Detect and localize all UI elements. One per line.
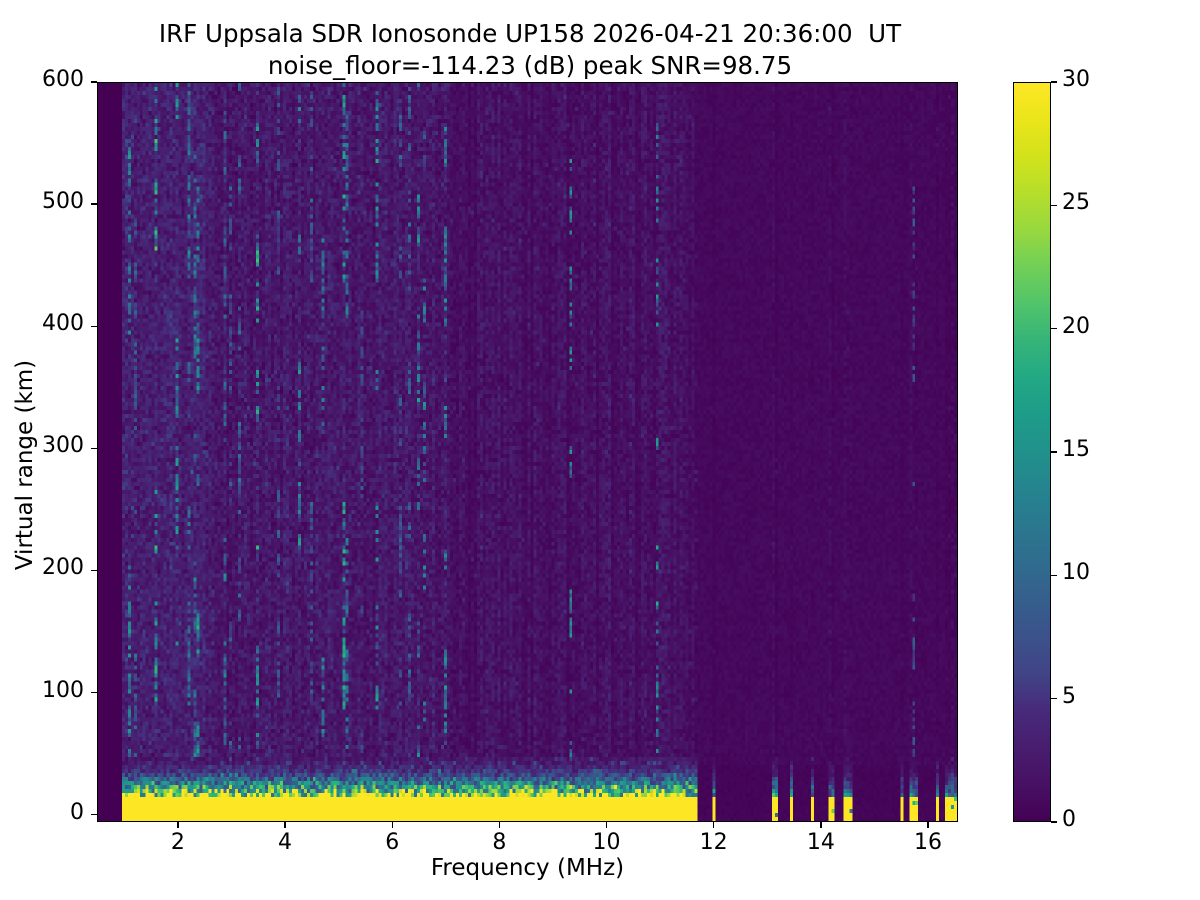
- y-tick-500: [91, 203, 97, 204]
- colorbar-tick-label-15: 15: [1062, 437, 1090, 462]
- colorbar-tick-label-20: 20: [1062, 314, 1090, 339]
- colorbar-tick-0: [1051, 821, 1057, 822]
- colorbar-tick-label-5: 5: [1062, 684, 1076, 709]
- colorbar-tick-label-10: 10: [1062, 560, 1090, 585]
- x-tick-label-10: 10: [572, 830, 642, 855]
- colorbar-tick-15: [1051, 451, 1057, 452]
- y-tick-0: [91, 814, 97, 815]
- ionogram-figure: IRF Uppsala SDR Ionosonde UP158 2026-04-…: [0, 0, 1200, 900]
- colorbar-tick-label-30: 30: [1062, 67, 1090, 92]
- y-tick-300: [91, 448, 97, 449]
- x-tick-14: [820, 822, 821, 828]
- y-tick-200: [91, 570, 97, 571]
- x-tick-6: [392, 822, 393, 828]
- y-tick-600: [91, 81, 97, 82]
- y-tick-100: [91, 692, 97, 693]
- x-axis-label: Frequency (MHz): [97, 855, 958, 881]
- x-tick-label-4: 4: [250, 830, 320, 855]
- x-tick-2: [177, 822, 178, 828]
- y-tick-label-600: 600: [0, 67, 84, 92]
- colorbar-tick-10: [1051, 575, 1057, 576]
- colorbar: [1013, 82, 1051, 822]
- colorbar-tick-30: [1051, 81, 1057, 82]
- x-tick-label-16: 16: [893, 830, 963, 855]
- colorbar-tick-25: [1051, 205, 1057, 206]
- ionogram-canvas: [98, 83, 957, 821]
- figure-title: IRF Uppsala SDR Ionosonde UP158 2026-04-…: [0, 18, 1060, 82]
- title-line-1: IRF Uppsala SDR Ionosonde UP158 2026-04-…: [0, 18, 1060, 50]
- y-tick-400: [91, 326, 97, 327]
- x-tick-12: [713, 822, 714, 828]
- y-axis-label: Virtual range (km): [12, 95, 38, 835]
- colorbar-tick-label-25: 25: [1062, 190, 1090, 215]
- x-tick-label-2: 2: [143, 830, 213, 855]
- x-tick-10: [606, 822, 607, 828]
- ionogram-heatmap: [98, 83, 957, 821]
- colorbar-tick-20: [1051, 328, 1057, 329]
- plot-axes: [97, 82, 958, 822]
- x-tick-4: [284, 822, 285, 828]
- title-line-2: noise_floor=-114.23 (dB) peak SNR=98.75: [0, 50, 1060, 82]
- x-tick-8: [499, 822, 500, 828]
- x-tick-16: [927, 822, 928, 828]
- x-tick-label-12: 12: [679, 830, 749, 855]
- x-tick-label-6: 6: [357, 830, 427, 855]
- x-tick-label-8: 8: [464, 830, 534, 855]
- colorbar-tick-label-0: 0: [1062, 807, 1076, 832]
- x-tick-label-14: 14: [786, 830, 856, 855]
- colorbar-tick-5: [1051, 698, 1057, 699]
